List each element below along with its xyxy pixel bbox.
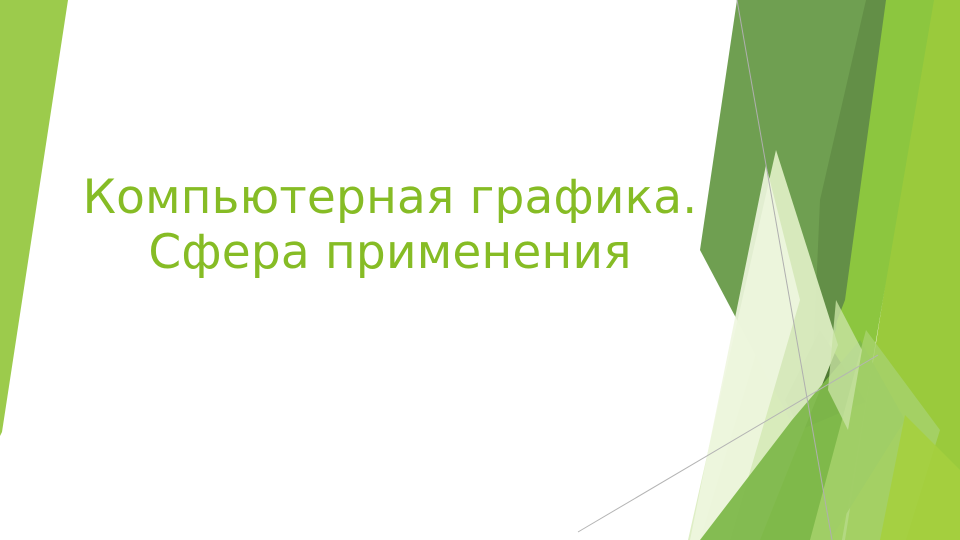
presentation-slide: Компьютерная графика. Сфера применения (0, 0, 960, 540)
title-line-1: Компьютерная графика. (60, 170, 720, 225)
shape-mid-green-diagonal (700, 340, 905, 540)
hairline-steep (737, 0, 832, 540)
shape-pale-upper-right (828, 300, 862, 430)
shape-lime-bottom-right (880, 415, 960, 540)
shape-dark-green-triangle (785, 330, 866, 430)
shape-dark-olive-overlap (812, 0, 886, 385)
shape-bright-green-band (700, 0, 934, 540)
title-line-2: Сфера применения (60, 225, 720, 280)
left-green-wedge (0, 0, 68, 436)
shape-light-green-overlay (810, 330, 940, 540)
hairline-shallow (578, 355, 878, 532)
slide-title: Компьютерная графика. Сфера применения (60, 170, 720, 281)
shape-olive-green-wedge (700, 0, 866, 420)
shape-lime-far-right (845, 0, 960, 540)
